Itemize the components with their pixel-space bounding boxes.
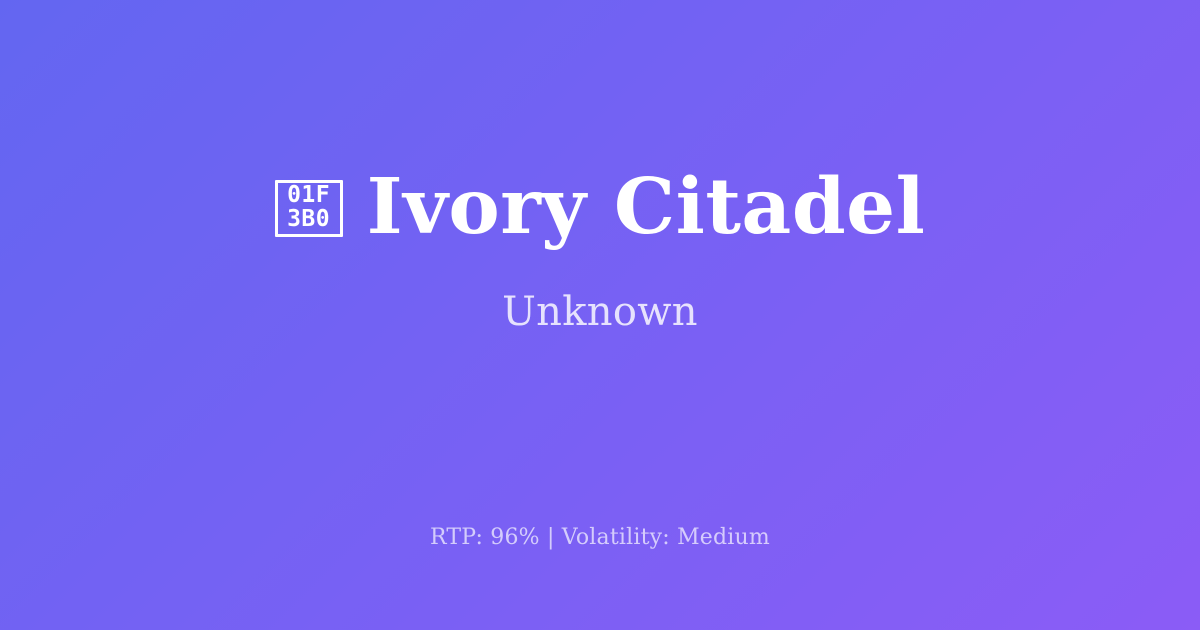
tofu-codepoint-bottom: 3B0 [287, 208, 330, 232]
title-row: 01F 3B0 Ivory Citadel [275, 169, 926, 246]
game-subtitle: Unknown [502, 292, 698, 332]
game-meta-footer: RTP: 96% | Volatility: Medium [0, 527, 1200, 549]
tofu-codepoint-top: 01F [287, 184, 330, 208]
game-og-card: 01F 3B0 Ivory Citadel Unknown RTP: 96% |… [0, 0, 1200, 630]
hero-block: 01F 3B0 Ivory Citadel Unknown [0, 0, 1200, 500]
slot-machine-icon: 01F 3B0 [275, 180, 343, 237]
page-title: Ivory Citadel [367, 169, 926, 246]
